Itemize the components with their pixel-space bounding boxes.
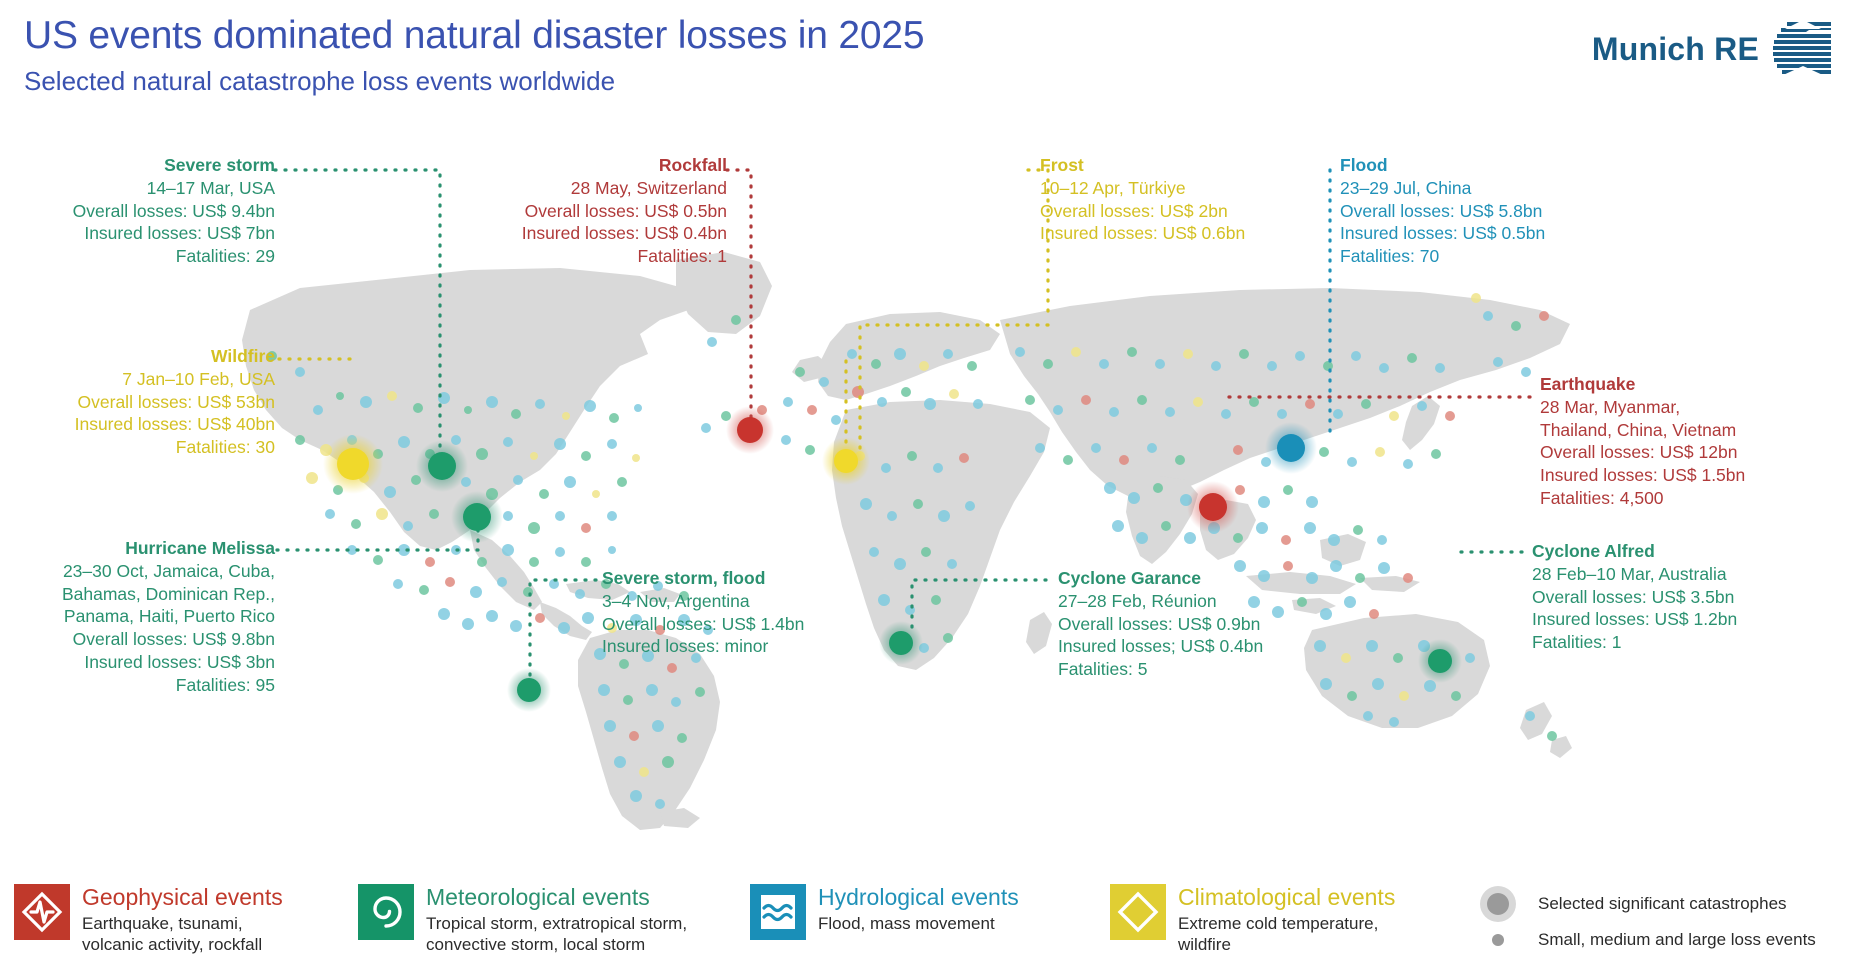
- callout-date-place: 14–17 Mar, USA: [10, 177, 275, 200]
- legend-item-meteorological: Meteorological events Tropical storm, ex…: [358, 884, 687, 955]
- marker-severe-storm-usa: [416, 440, 468, 492]
- callout-date-place: 10–12 Apr, Türkiye: [1040, 177, 1245, 200]
- callout-insured-losses: Insured losses: US$ 1.2bn: [1532, 608, 1737, 631]
- callout-overall-losses: Overall losses: US$ 0.5bn: [455, 200, 727, 223]
- legend-title: Hydrological events: [818, 885, 1019, 911]
- callout-overall-losses: Overall losses: US$ 1.4bn: [602, 613, 804, 636]
- legend-item-geophysical: Geophysical events Earthquake, tsunami, …: [14, 884, 283, 955]
- marker-earthquake-myanmar: [1187, 481, 1239, 533]
- callout-insured-losses: Insured losses: minor: [602, 635, 804, 658]
- legend-desc-line-2: wildfire: [1178, 934, 1395, 955]
- legend-size-key-loss-events: Small, medium and large loss events: [1478, 930, 1816, 950]
- callout-fatalities: Fatalities: 30: [10, 436, 275, 459]
- callout-insured-losses: Insured losses: US$ 1.5bn: [1540, 464, 1745, 487]
- callout-title: Frost: [1040, 154, 1245, 177]
- marker-wildfire-usa: [323, 434, 383, 494]
- callout-wildfire-usa: Wildfire 7 Jan–10 Feb, USA Overall losse…: [10, 345, 275, 459]
- callout-overall-losses: Overall losses: US$ 12bn: [1540, 441, 1745, 464]
- munich-re-logo: Munich RE: [1592, 18, 1835, 80]
- legend-size-key-significant: Selected significant catastrophes: [1478, 884, 1787, 924]
- callout-date-place: 28 Mar, Myanmar,: [1540, 396, 1745, 419]
- callout-rockfall-switzerland: Rockfall 28 May, Switzerland Overall los…: [455, 154, 727, 268]
- callout-date-place-2: Thailand, China, Vietnam: [1540, 419, 1745, 442]
- callout-title: Cyclone Garance: [1058, 567, 1263, 590]
- page-subtitle: Selected natural catastrophe loss events…: [24, 66, 615, 97]
- callout-title: Severe storm: [10, 154, 275, 177]
- world-map-area: Severe storm 14–17 Mar, USA Overall loss…: [0, 110, 1851, 830]
- callout-title: Earthquake: [1540, 373, 1745, 396]
- callout-overall-losses: Overall losses: US$ 53bn: [10, 391, 275, 414]
- callout-overall-losses: Overall losses: US$ 0.9bn: [1058, 613, 1263, 636]
- callout-date-place: 7 Jan–10 Feb, USA: [10, 368, 275, 391]
- callout-earthquake-myanmar: Earthquake 28 Mar, Myanmar, Thailand, Ch…: [1540, 373, 1745, 510]
- marker-severe-storm-argentina: [507, 668, 551, 712]
- callout-overall-losses: Overall losses: US$ 2bn: [1040, 200, 1245, 223]
- callout-title: Rockfall: [455, 154, 727, 177]
- callout-insured-losses: Insured losses: US$ 7bn: [10, 222, 275, 245]
- legend-size-key-label: Small, medium and large loss events: [1538, 930, 1816, 950]
- page-title: US events dominated natural disaster los…: [24, 14, 924, 58]
- legend-desc-line-1: Tropical storm, extratropical storm,: [426, 913, 687, 934]
- callout-severe-storm-usa: Severe storm 14–17 Mar, USA Overall loss…: [10, 154, 275, 268]
- callout-title: Wildfire: [10, 345, 275, 368]
- marker-flood-china: [1265, 422, 1317, 474]
- callout-insured-losses: Insured losses: US$ 0.4bn: [455, 222, 727, 245]
- callout-title: Severe storm, flood: [602, 567, 804, 590]
- callout-date-place: 3–4 Nov, Argentina: [602, 590, 804, 613]
- callout-insured-losses: Insured losses: US$ 3bn: [10, 651, 275, 674]
- legend-item-hydrological: Hydrological events Flood, mass movement: [750, 884, 1019, 940]
- callout-date-place: 28 Feb–10 Mar, Australia: [1532, 563, 1737, 586]
- legend-desc-line-1: Extreme cold temperature,: [1178, 913, 1395, 934]
- callout-date-place-2: Bahamas, Dominican Rep.,: [10, 583, 275, 606]
- callout-fatalities: Fatalities: 29: [10, 245, 275, 268]
- legend-size-key-label: Selected significant catastrophes: [1538, 894, 1787, 914]
- marker-rockfall-switzerland: [726, 406, 774, 454]
- callout-insured-losses: Insured losses: US$ 0.6bn: [1040, 222, 1245, 245]
- callout-fatalities: Fatalities: 95: [10, 674, 275, 697]
- callout-overall-losses: Overall losses: US$ 5.8bn: [1340, 200, 1545, 223]
- meteorological-spiral-icon: [358, 884, 414, 940]
- geophysical-diamond-seismograph-icon: [14, 884, 70, 940]
- legend-desc-line-2: convective storm, local storm: [426, 934, 687, 955]
- legend-item-climatological: Climatological events Extreme cold tempe…: [1110, 884, 1395, 955]
- callout-fatalities: Fatalities: 1: [1532, 631, 1737, 654]
- large-halo-dot-icon: [1478, 884, 1526, 924]
- callout-frost-turkiye: Frost 10–12 Apr, Türkiye Overall losses:…: [1040, 154, 1245, 245]
- hydrological-waves-icon: [750, 884, 806, 940]
- callout-insured-losses: Insured losses: US$ 40bn: [10, 413, 275, 436]
- callout-insured-losses: Insured losses; US$ 0.4bn: [1058, 635, 1263, 658]
- callout-title: Cyclone Alfred: [1532, 540, 1737, 563]
- marker-hurricane-melissa: [451, 491, 503, 543]
- callout-date-place: 23–30 Oct, Jamaica, Cuba,: [10, 560, 275, 583]
- callout-fatalities: Fatalities: 4,500: [1540, 487, 1745, 510]
- legend-desc-line-1: Flood, mass movement: [818, 913, 1019, 934]
- logo-wordmark: Munich RE: [1592, 31, 1759, 68]
- callout-overall-losses: Overall losses: US$ 3.5bn: [1532, 586, 1737, 609]
- callout-overall-losses: Overall losses: US$ 9.8bn: [10, 628, 275, 651]
- legend-desc-line-1: Earthquake, tsunami,: [82, 913, 283, 934]
- callout-cyclone-alfred: Cyclone Alfred 28 Feb–10 Mar, Australia …: [1532, 540, 1737, 654]
- callout-flood-china: Flood 23–29 Jul, China Overall losses: U…: [1340, 154, 1545, 268]
- callout-insured-losses: Insured losses: US$ 0.5bn: [1340, 222, 1545, 245]
- munich-re-stripes-logo-icon: [1773, 20, 1835, 78]
- callout-fatalities: Fatalities: 1: [455, 245, 727, 268]
- callout-cyclone-garance: Cyclone Garance 27–28 Feb, Réunion Overa…: [1058, 567, 1263, 681]
- legend-title: Climatological events: [1178, 885, 1395, 911]
- callout-date-place-3: Panama, Haiti, Puerto Rico: [10, 605, 275, 628]
- callout-date-place: 27–28 Feb, Réunion: [1058, 590, 1263, 613]
- callout-date-place: 23–29 Jul, China: [1340, 177, 1545, 200]
- callout-overall-losses: Overall losses: US$ 9.4bn: [10, 200, 275, 223]
- map-landmasses: [242, 252, 1572, 830]
- callout-fatalities: Fatalities: 5: [1058, 658, 1263, 681]
- callout-date-place: 28 May, Switzerland: [455, 177, 727, 200]
- legend-title: Meteorological events: [426, 885, 687, 911]
- marker-cyclone-alfred: [1418, 639, 1462, 683]
- legend-title: Geophysical events: [82, 885, 283, 911]
- callout-title: Flood: [1340, 154, 1545, 177]
- small-dot-icon: [1478, 930, 1526, 950]
- callout-fatalities: Fatalities: 70: [1340, 245, 1545, 268]
- legend: Geophysical events Earthquake, tsunami, …: [0, 872, 1851, 957]
- legend-desc-line-2: volcanic activity, rockfall: [82, 934, 283, 955]
- marker-cyclone-garance: [879, 621, 923, 665]
- callout-title: Hurricane Melissa: [10, 537, 275, 560]
- callout-severe-storm-flood-argentina: Severe storm, flood 3–4 Nov, Argentina O…: [602, 567, 804, 658]
- callout-hurricane-melissa: Hurricane Melissa 23–30 Oct, Jamaica, Cu…: [10, 537, 275, 696]
- page-header: US events dominated natural disaster los…: [0, 0, 1851, 110]
- climatological-diamond-icon: [1110, 884, 1166, 940]
- marker-frost-turkiye: [822, 437, 870, 485]
